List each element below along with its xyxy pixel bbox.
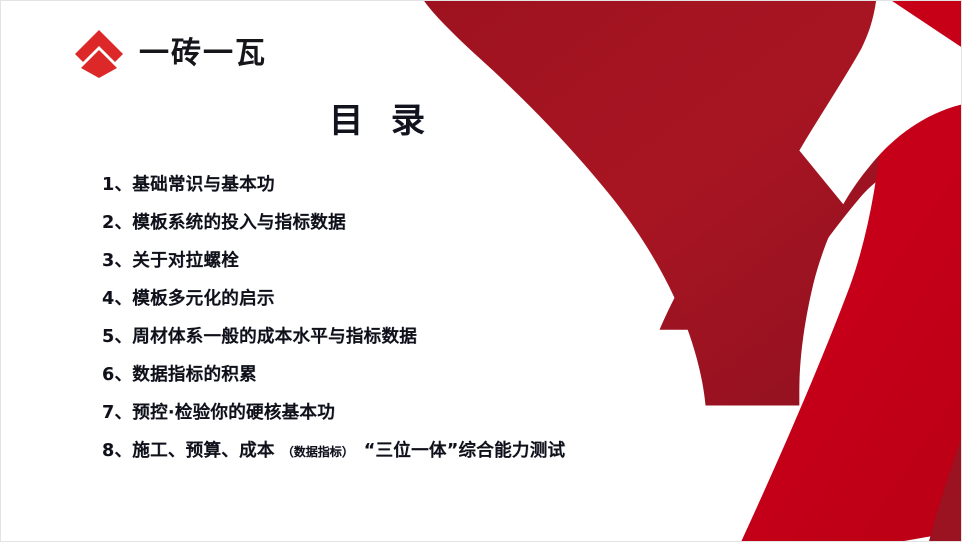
toc-item-label: 施工、预算、成本 [132, 437, 274, 462]
page-title: 目 录 [1, 101, 761, 142]
toc-item-index: 5、 [102, 323, 132, 348]
toc-item-index: 7、 [102, 399, 132, 424]
ribbon-dark-sliver [929, 439, 961, 541]
toc-item-index: 2、 [102, 209, 132, 234]
ribbon-white-gap [799, 1, 961, 204]
toc-item[interactable]: 6、 数据指标的积累 [102, 361, 802, 399]
toc-item[interactable]: 3、 关于对拉螺栓 [102, 247, 802, 285]
toc-item[interactable]: 1、 基础常识与基本功 [102, 171, 802, 209]
toc-item-label: 数据指标的积累 [132, 361, 257, 386]
brand-name: 一砖一瓦 [139, 39, 267, 69]
toc-item[interactable]: 5、 周材体系一般的成本水平与指标数据 [102, 323, 802, 361]
toc-item-label: 模板多元化的启示 [132, 285, 274, 310]
toc-item-tail: “三位一体”综合能力测试 [356, 437, 566, 462]
toc-item-index: 3、 [102, 247, 132, 272]
toc-item-index: 4、 [102, 285, 132, 310]
toc-item-label: 基础常识与基本功 [132, 171, 274, 196]
table-of-contents: 1、 基础常识与基本功 2、 模板系统的投入与指标数据 3、 关于对拉螺栓 4、… [102, 171, 802, 475]
toc-item[interactable]: 4、 模板多元化的启示 [102, 285, 802, 323]
toc-item-index: 1、 [102, 171, 132, 196]
toc-item-index: 8、 [102, 437, 132, 462]
toc-item-note: （数据指标） [275, 443, 356, 460]
toc-item[interactable]: 8、 施工、预算、成本 （数据指标） “三位一体”综合能力测试 [102, 437, 802, 475]
toc-item-label: 模板系统的投入与指标数据 [132, 209, 346, 234]
toc-item-label: 周材体系一般的成本水平与指标数据 [132, 323, 417, 348]
toc-item-index: 6、 [102, 361, 132, 386]
toc-item-label: 关于对拉螺栓 [132, 247, 239, 272]
toc-item-label: 预控·检验你的硬核基本功 [132, 399, 335, 424]
presentation-slide: 一砖一瓦 目 录 1、 基础常识与基本功 2、 模板系统的投入与指标数据 3、 … [0, 0, 962, 542]
toc-item[interactable]: 2、 模板系统的投入与指标数据 [102, 209, 802, 247]
toc-item[interactable]: 7、 预控·检验你的硬核基本功 [102, 399, 802, 437]
brand-logo: 一砖一瓦 [73, 29, 267, 79]
diamond-chevron-logo-icon [73, 28, 125, 80]
